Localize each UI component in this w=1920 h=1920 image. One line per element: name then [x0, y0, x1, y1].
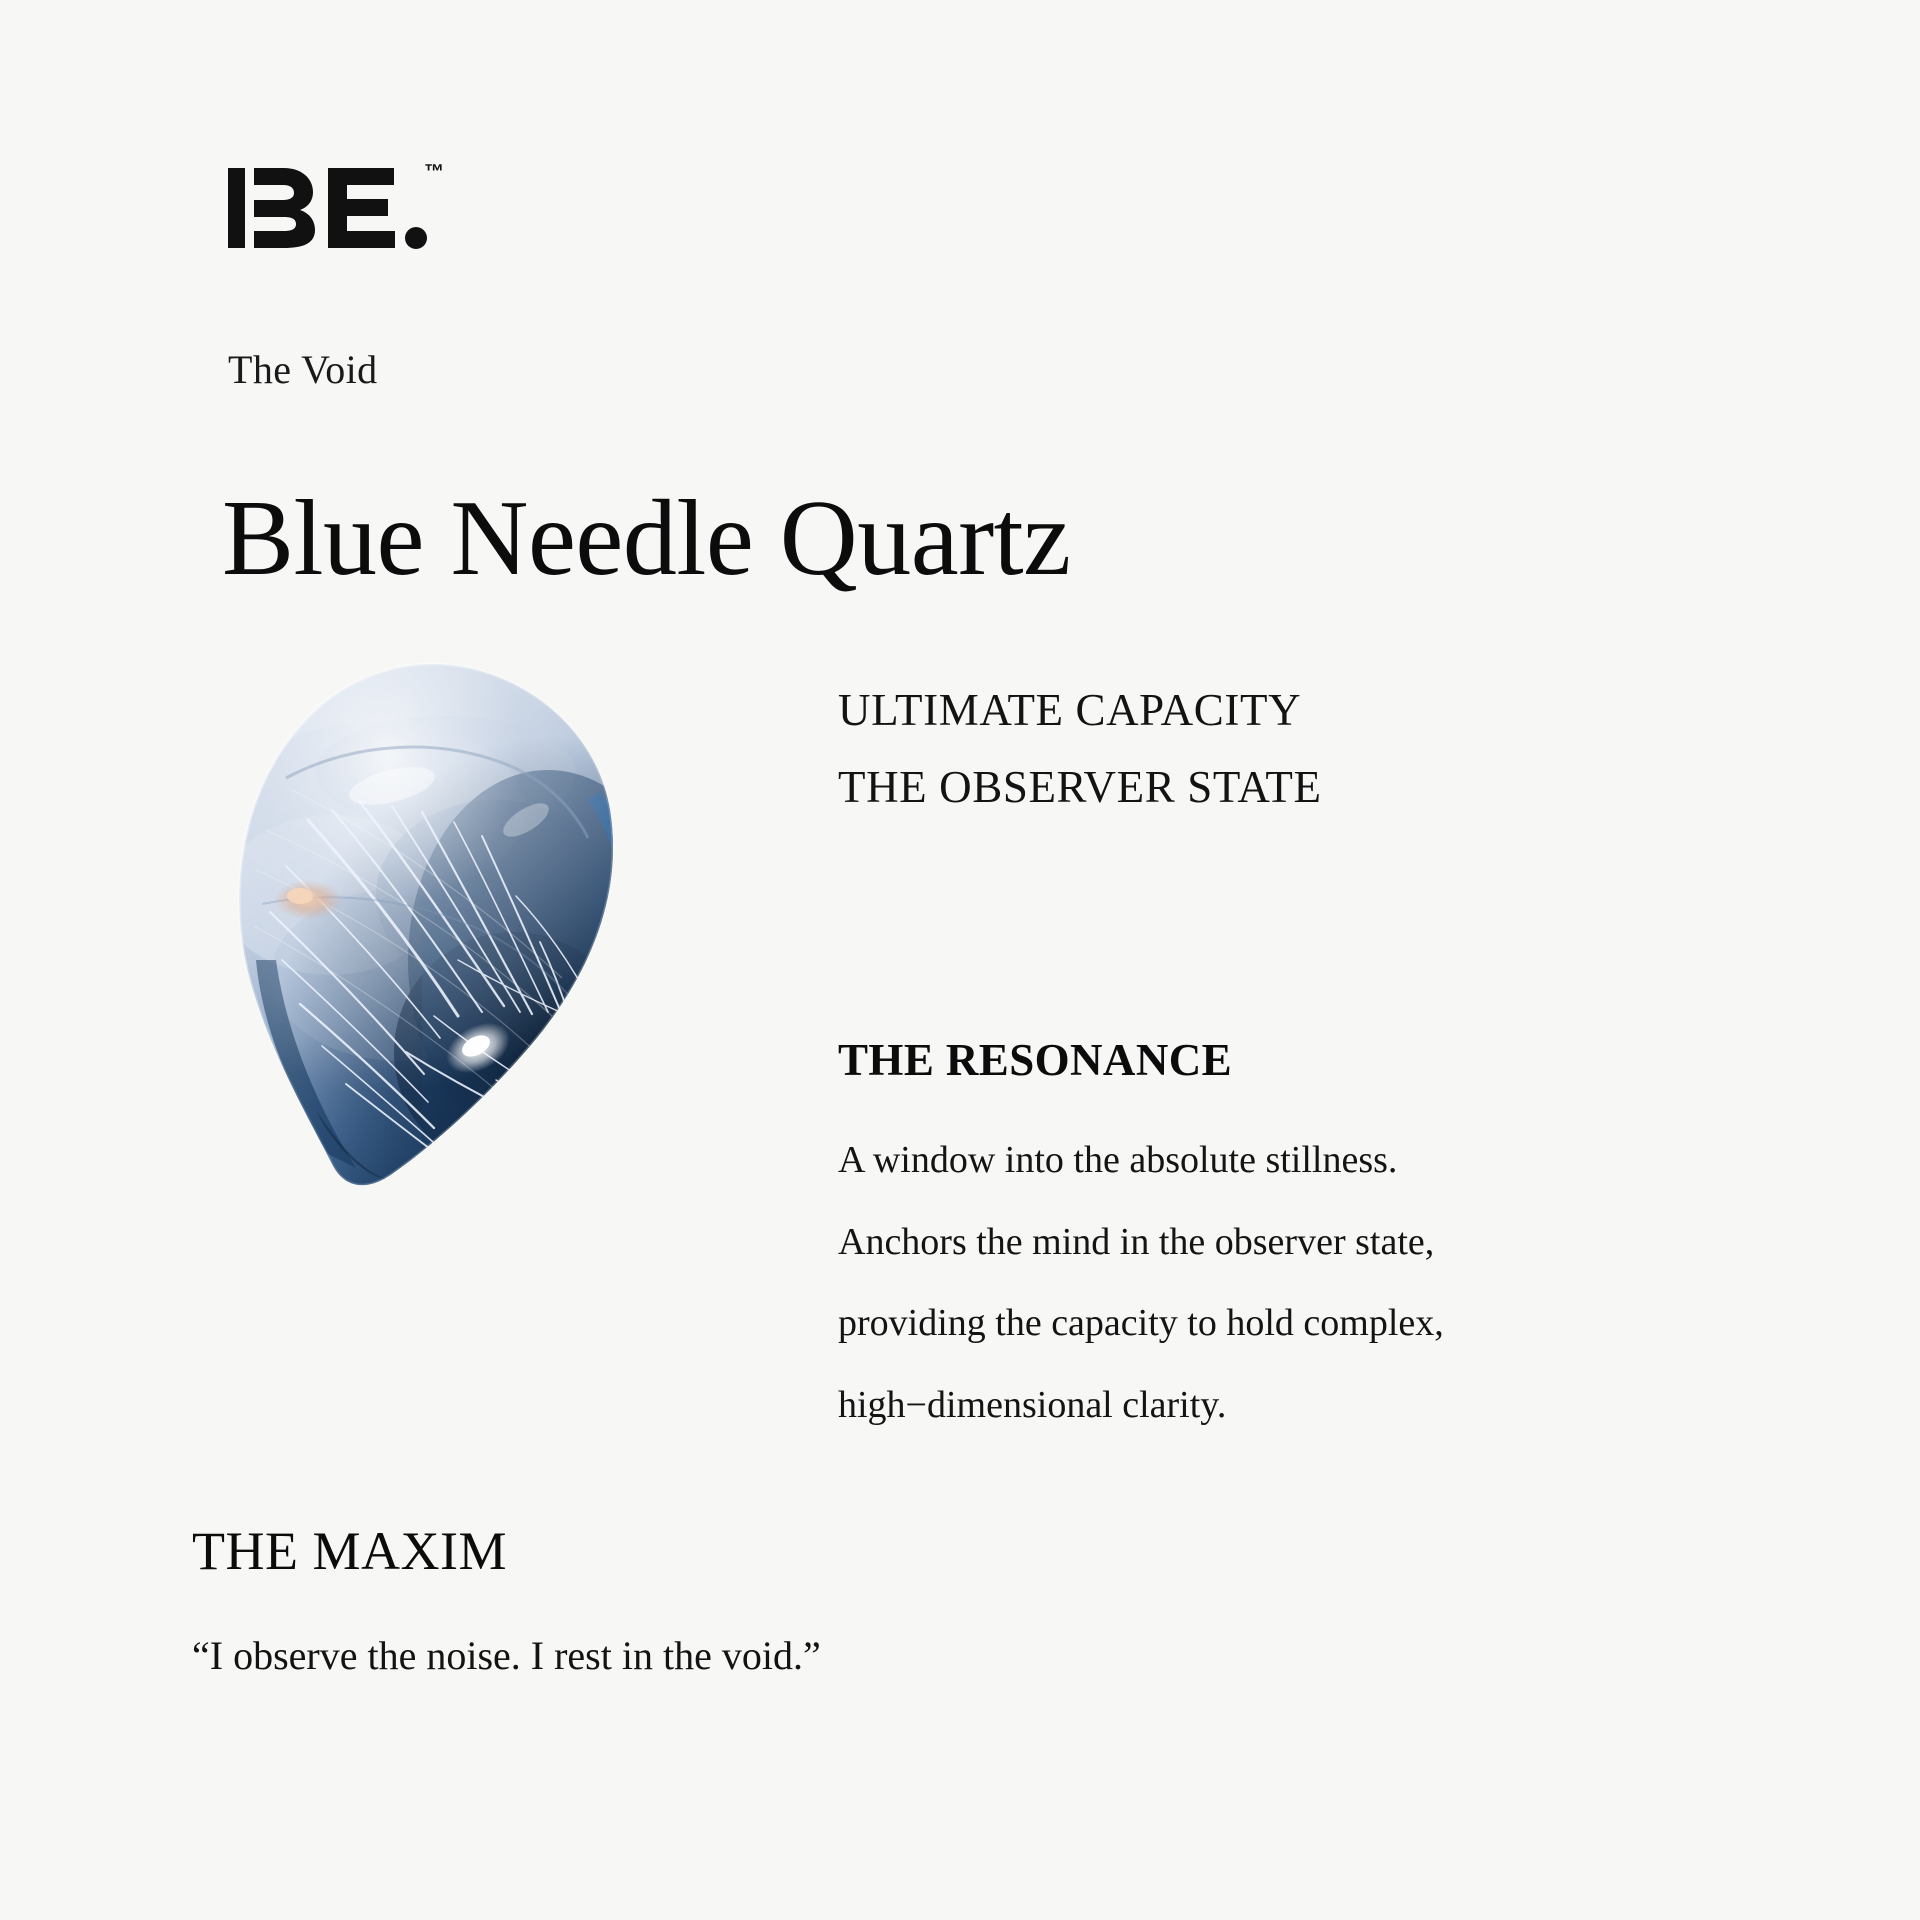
product-card: ™ The Void Blue Needle Quartz: [0, 0, 1920, 1920]
resonance-body: A window into the absolute stillness. An…: [838, 1120, 1718, 1447]
capacity-block: ULTIMATE CAPACITY THE OBSERVER STATE: [838, 672, 1558, 827]
trademark-symbol: ™: [424, 162, 445, 182]
capacity-line-2: THE OBSERVER STATE: [838, 749, 1558, 826]
page-title: Blue Needle Quartz: [222, 476, 1071, 601]
resonance-heading: THE RESONANCE: [838, 1038, 1232, 1083]
capacity-line-1: ULTIMATE CAPACITY: [838, 672, 1558, 749]
resonance-body-line: Anchors the mind in the observer state,: [838, 1202, 1718, 1284]
resonance-body-line: providing the capacity to hold complex,: [838, 1283, 1718, 1365]
resonance-body-line: A window into the absolute stillness.: [838, 1120, 1718, 1202]
collection-eyebrow: The Void: [228, 350, 378, 390]
be-wordmark-logo: ™: [228, 160, 458, 256]
resonance-body-line: high−dimensional clarity.: [838, 1365, 1718, 1447]
brand-logo[interactable]: ™: [228, 160, 568, 270]
maxim-heading: THE MAXIM: [192, 1524, 507, 1578]
maxim-quote: “I observe the noise. I rest in the void…: [192, 1630, 821, 1682]
product-image: [196, 660, 676, 1200]
